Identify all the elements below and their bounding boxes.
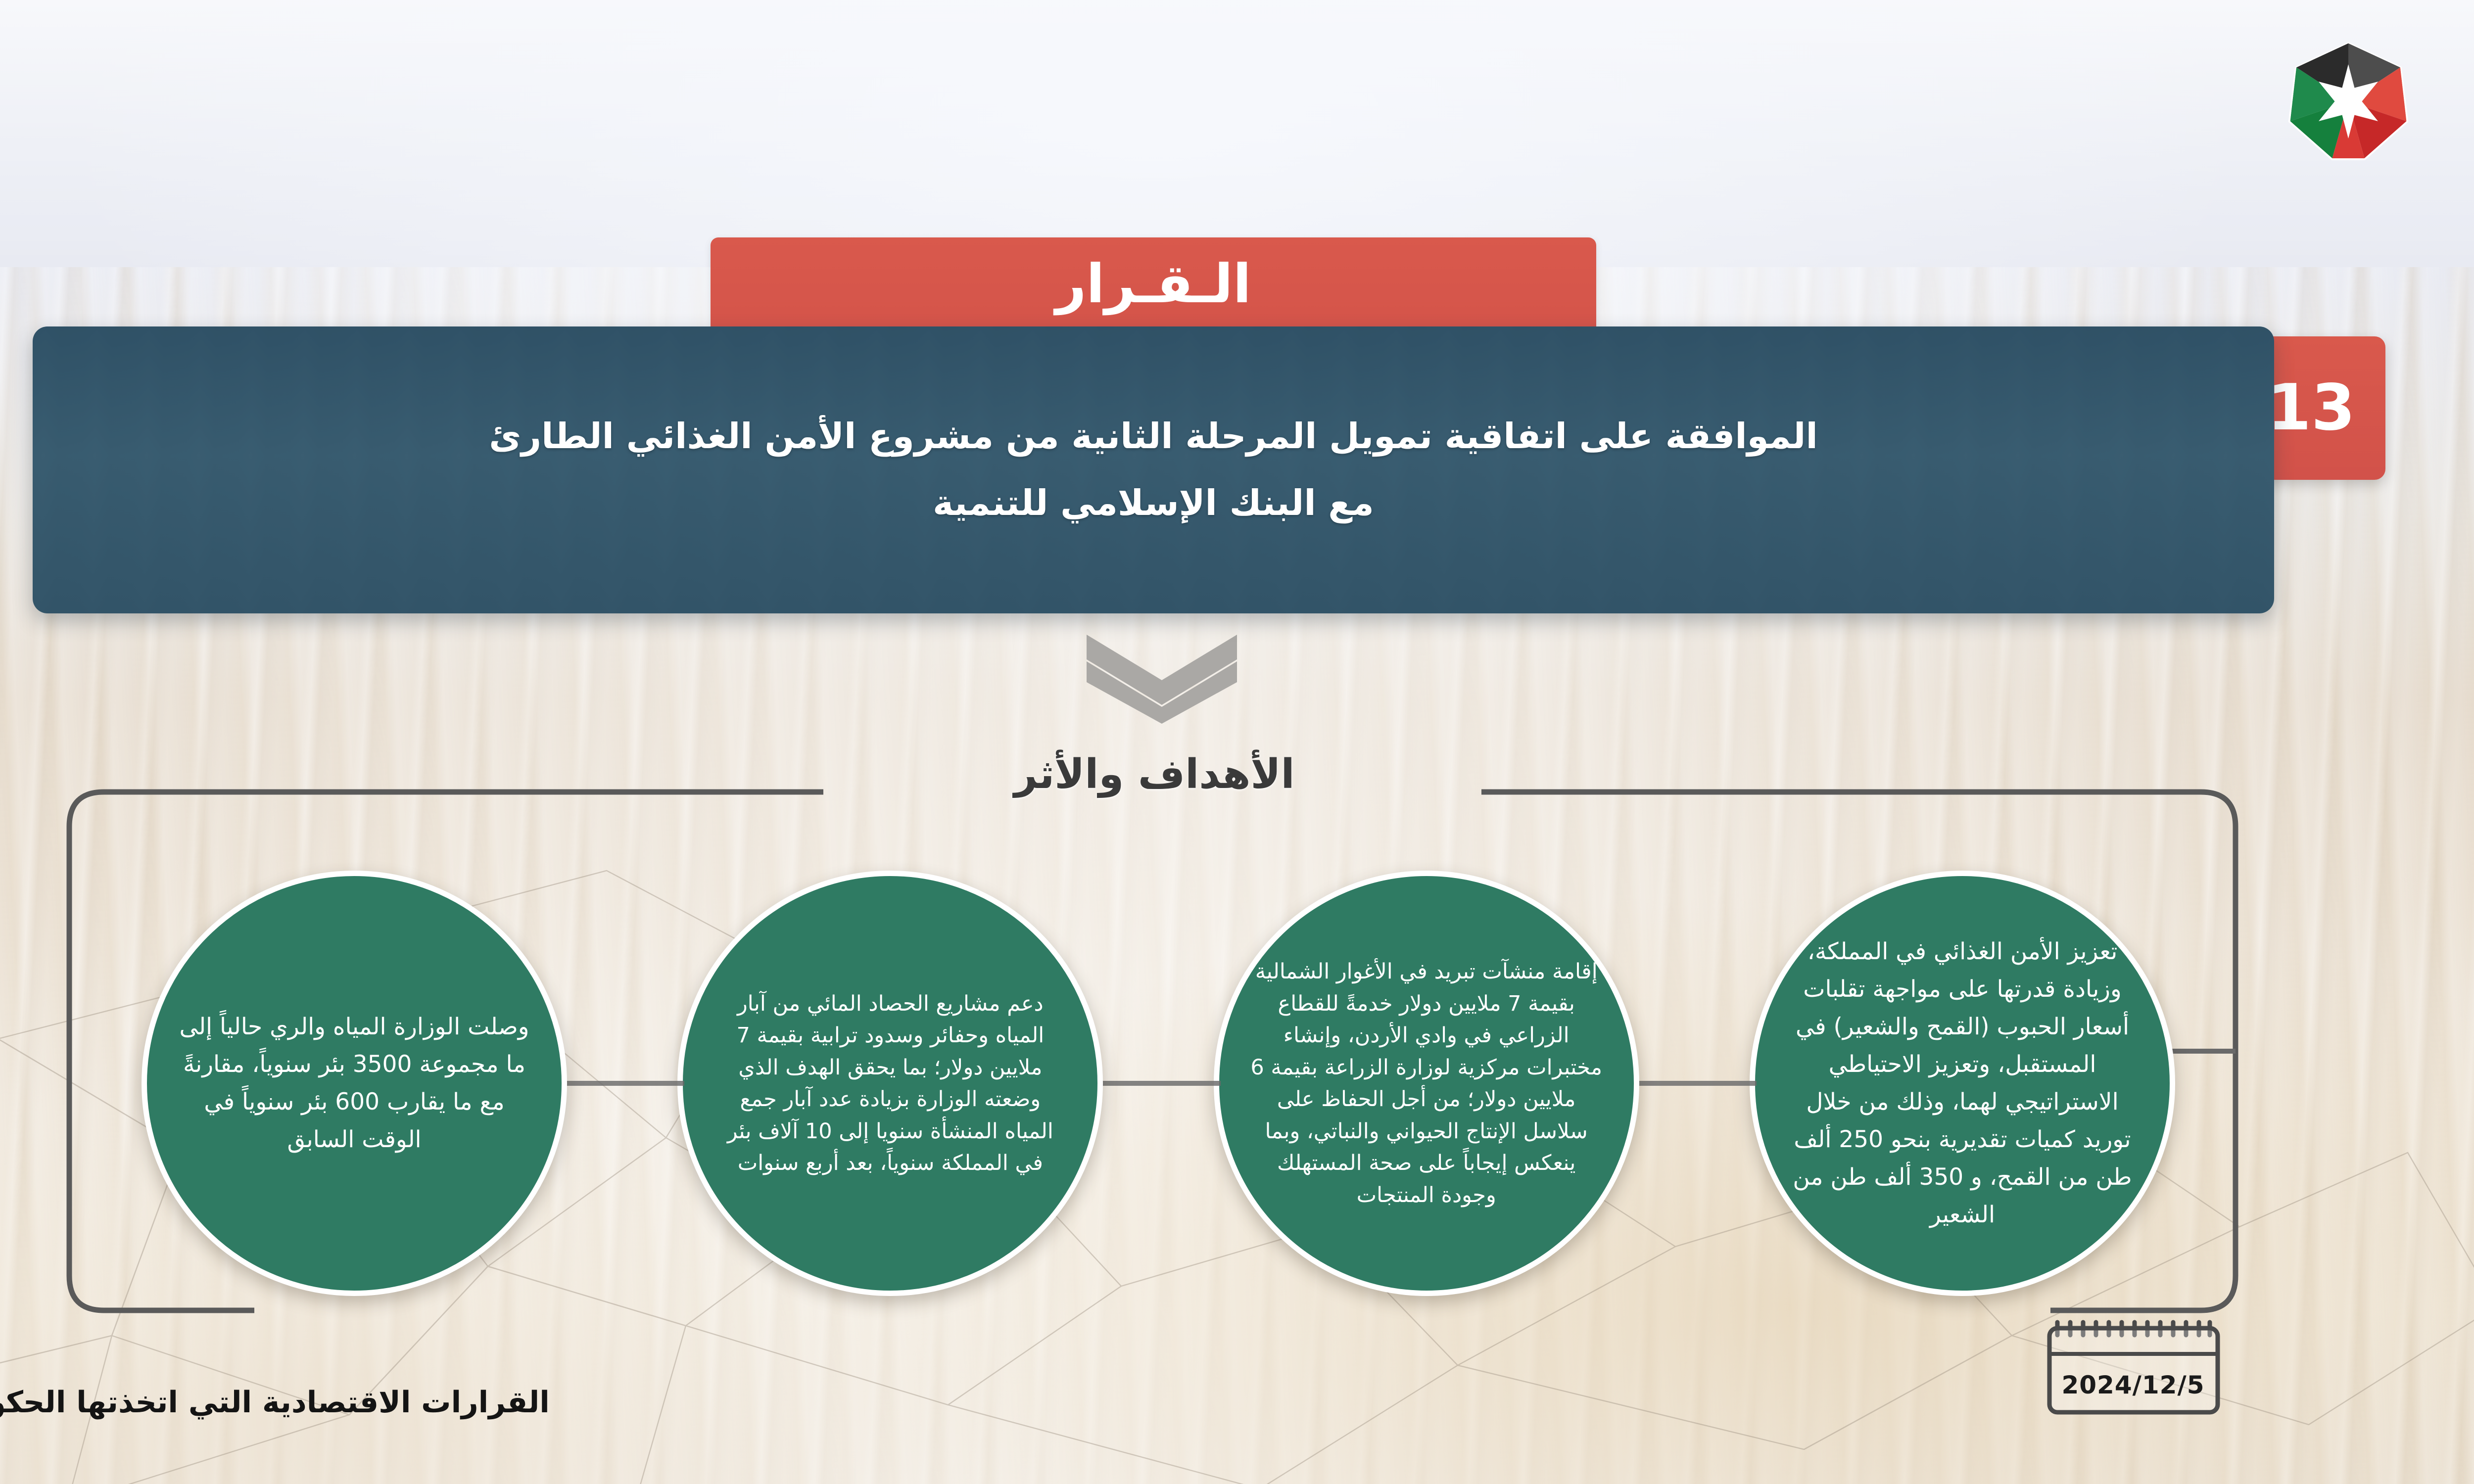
bubble-water-ministry-text: وصلت الوزارة المياه والري حالياً إلى ما … [177, 1008, 532, 1159]
footer-note: القرارات الاقتصادية التي اتخذتها الحكومة [0, 1385, 550, 1420]
jordan-heptagon-star-logo [2286, 40, 2410, 163]
decision-tab: الـقـرار [711, 237, 1596, 334]
calendar-icon [2032, 1313, 2235, 1420]
bubble-connector [560, 1081, 684, 1086]
calendar-date-value: 2024/12/5 [2032, 1371, 2235, 1399]
bubble-connector [1632, 1081, 1757, 1086]
decision-panel: الموافقة على اتفاقية تمويل المرحلة الثان… [33, 326, 2274, 613]
bubble-cooling-facilities-text: إقامة منشآت تبريد في الأغوار الشمالية بق… [1249, 956, 1604, 1211]
bubble-cooling-facilities: إقامة منشآت تبريد في الأغوار الشمالية بق… [1214, 871, 1639, 1296]
bubble-water-harvesting-text: دعم مشاريع الحصاد المائي من آبار المياه … [713, 988, 1068, 1179]
decision-tab-label: الـقـرار [1055, 258, 1251, 314]
calendar-date-widget: 2024/12/5 [2032, 1313, 2235, 1420]
bubble-water-ministry: وصلت الوزارة المياه والري حالياً إلى ما … [142, 871, 567, 1296]
slide-number-value: 13 [2267, 376, 2355, 440]
bubble-food-security-text: تعزيز الأمن الغذائي في المملكة، وزيادة ق… [1785, 933, 2140, 1234]
bubble-connector [1096, 1081, 1220, 1086]
double-chevron-down-icon [1078, 631, 1246, 725]
decision-title-line-1: الموافقة على اتفاقية تمويل المرحلة الثان… [489, 415, 1818, 459]
decision-title-line-2: مع البنك الإسلامي للتنمية [933, 481, 1374, 525]
bubble-food-security: تعزيز الأمن الغذائي في المملكة، وزيادة ق… [1750, 871, 2175, 1296]
slide-canvas: الـقـرار 13 الموافقة على اتفاقية تمويل ا… [0, 0, 2474, 1484]
bubble-water-harvesting: دعم مشاريع الحصاد المائي من آبار المياه … [677, 871, 1103, 1296]
objectives-bubble-row: تعزيز الأمن الغذائي في المملكة، وزيادة ق… [142, 836, 2175, 1331]
